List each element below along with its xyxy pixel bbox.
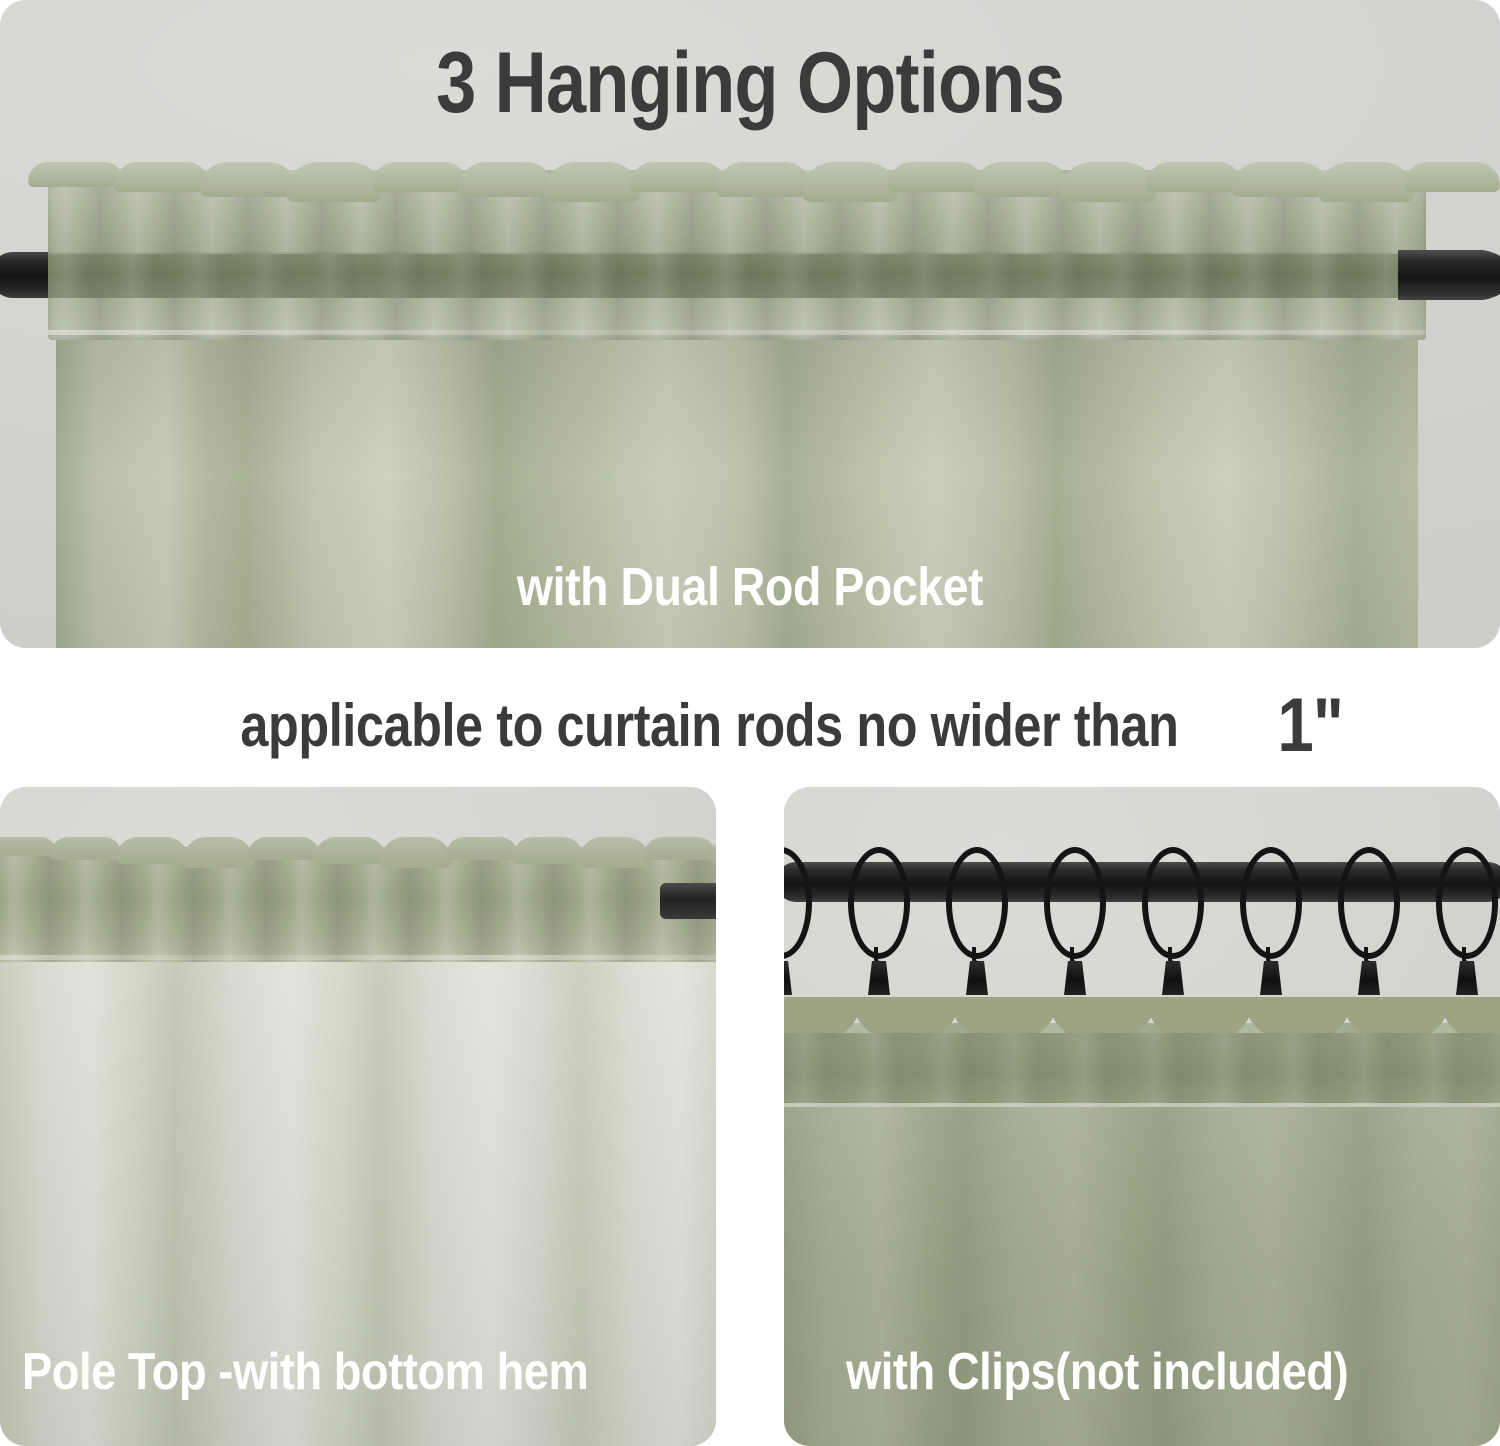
ruffle-scallop — [630, 162, 726, 192]
ruffle-scallop — [710, 837, 716, 864]
ruffle-scallop — [0, 837, 56, 856]
ruffle-scallop — [1232, 162, 1328, 197]
ring-loop-icon — [1436, 847, 1498, 959]
ruffle-scallop — [458, 162, 554, 197]
ruffle-scallop — [1146, 162, 1242, 192]
rod-end-cap-icon — [660, 883, 716, 919]
rod-width-note: applicable to curtain rods no wider than… — [0, 670, 1500, 780]
ring-loop-icon — [1338, 847, 1400, 959]
curtain-band-stitch-line — [784, 1103, 1500, 1107]
curtain-ring-clip-icon — [784, 847, 812, 959]
ruffle-scallop — [888, 162, 984, 192]
ruffle-scallop — [644, 837, 716, 860]
page-title: 3 Hanging Options — [120, 40, 1380, 126]
ruffle-scallop — [50, 837, 122, 860]
curtain-ring-clip-icon — [1338, 847, 1400, 959]
rod-width-note-measure: 1" — [1278, 682, 1344, 769]
alligator-clip-icon — [1162, 961, 1184, 995]
panel-pole-top: Pole Top -with bottom hem — [0, 787, 716, 1446]
ruffle-scallop — [248, 837, 320, 860]
curtain-ring-clip-icon — [1240, 847, 1302, 959]
ring-loop-icon — [784, 847, 812, 959]
ruffle-scallop — [716, 162, 812, 197]
curtain-ring-clip-icon — [848, 847, 910, 959]
alligator-clip-icon — [1456, 961, 1478, 995]
rod-pocket-stitch-line — [48, 330, 1426, 335]
ruffle-scallop — [200, 162, 296, 197]
caption-dual-rod-pocket: with Dual Rod Pocket — [105, 560, 1395, 614]
ruffle-scallop — [1404, 162, 1500, 192]
ruffle-scallop — [512, 837, 584, 864]
ruffle-scallop — [974, 162, 1070, 197]
infographic-stage: with Dual Rod Pocket 3 Hanging Options a… — [0, 0, 1500, 1446]
curtain-ring-clip-icon — [1142, 847, 1204, 959]
ring-loop-icon — [1044, 847, 1106, 959]
ruffle-scallop — [1060, 162, 1156, 202]
curtain-ring-clip-icon — [1436, 847, 1498, 959]
ruffle-scallop — [182, 837, 254, 868]
curtain-ring-clip-icon — [1044, 847, 1106, 959]
alligator-clip-icon — [966, 961, 988, 995]
ring-loop-icon — [946, 847, 1008, 959]
alligator-clip-icon — [1064, 961, 1086, 995]
rod-pocket-ruffle-top — [48, 162, 1426, 196]
ruffle-scallop — [286, 162, 382, 202]
ruffle-scallop — [446, 837, 518, 860]
ruffle-scallop — [372, 162, 468, 192]
rod-end-cap-icon — [1398, 250, 1500, 300]
ruffle-scallop — [578, 837, 650, 868]
panel-clips: with Clips(not included) — [784, 787, 1500, 1446]
rod-pocket-ruffle-bottom-left — [0, 837, 716, 863]
alligator-clip-icon — [1358, 961, 1380, 995]
ruffle-scallop — [380, 837, 452, 868]
rod-width-note-text: applicable to curtain rods no wider than — [241, 691, 1179, 760]
ring-loop-icon — [848, 847, 910, 959]
ring-clip-group — [784, 847, 1500, 1047]
curtain-ring-clip-icon — [946, 847, 1008, 959]
ring-loop-icon — [1142, 847, 1204, 959]
alligator-clip-icon — [1260, 961, 1282, 995]
rod-pocket-stitch-line — [0, 955, 716, 960]
ruffle-scallop — [314, 837, 386, 864]
ruffle-scallop — [802, 162, 898, 202]
ruffle-scallop — [1318, 162, 1414, 202]
caption-clips: with Clips(not included) — [846, 1346, 1348, 1398]
alligator-clip-icon — [868, 961, 890, 995]
ring-loop-icon — [1240, 847, 1302, 959]
caption-pole-top: Pole Top -with bottom hem — [22, 1346, 588, 1398]
alligator-clip-icon — [784, 961, 792, 995]
rod-show-through-band — [48, 254, 1426, 298]
ruffle-scallop — [114, 162, 210, 192]
ruffle-scallop — [544, 162, 640, 202]
ruffle-scallop — [116, 837, 188, 864]
ruffle-scallop — [28, 162, 124, 187]
